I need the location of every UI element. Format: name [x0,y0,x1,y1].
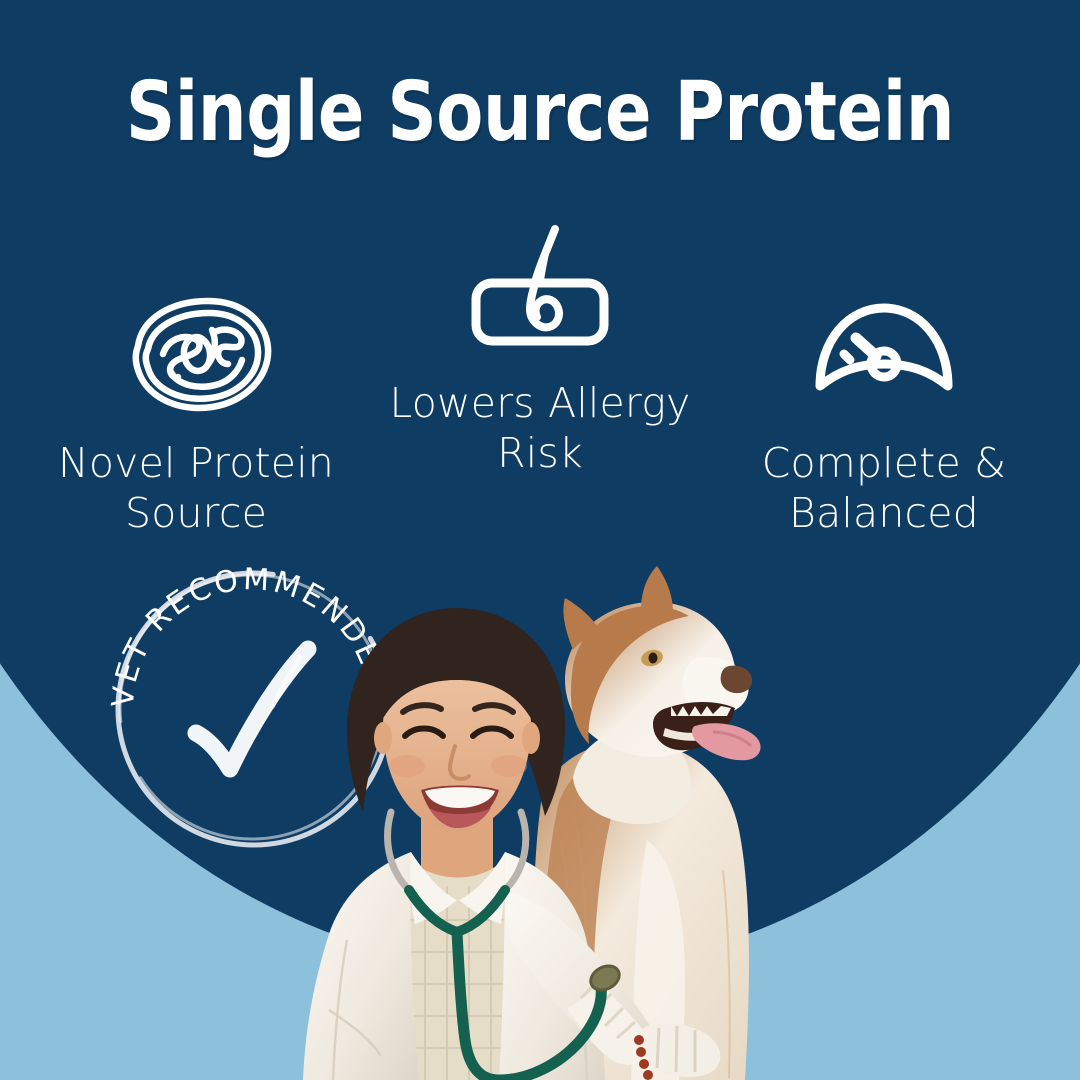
feature-label: Complete & Balanced [762,438,1007,539]
feature-lowers-allergy-risk: Lowers Allergy Risk [380,200,700,479]
feature-label-line-2: Balanced [789,489,979,537]
gauge-icon [804,266,964,416]
feature-label-line-2: Risk [497,429,583,477]
feature-label-line-2: Source [125,489,267,537]
feature-label-line-1: Lowers Allergy [389,379,690,427]
feature-label: Lowers Allergy Risk [389,378,690,479]
vet-and-dog-photo [243,540,813,1080]
steak-icon [116,266,276,416]
feature-label-line-1: Complete & [762,439,1007,487]
page-title: Single Source Protein [38,72,1042,154]
feature-novel-protein-source: Novel Protein Source [36,200,356,539]
hair-follicle-icon [460,206,620,356]
promo-graphic: Single Source Protein [0,0,1080,1080]
feature-row: Novel Protein Source Lowers Allergy Risk [0,200,1080,539]
feature-complete-and-balanced: Complete & Balanced [724,200,1044,539]
feature-label-line-1: Novel Protein [58,439,334,487]
feature-label: Novel Protein Source [58,438,334,539]
